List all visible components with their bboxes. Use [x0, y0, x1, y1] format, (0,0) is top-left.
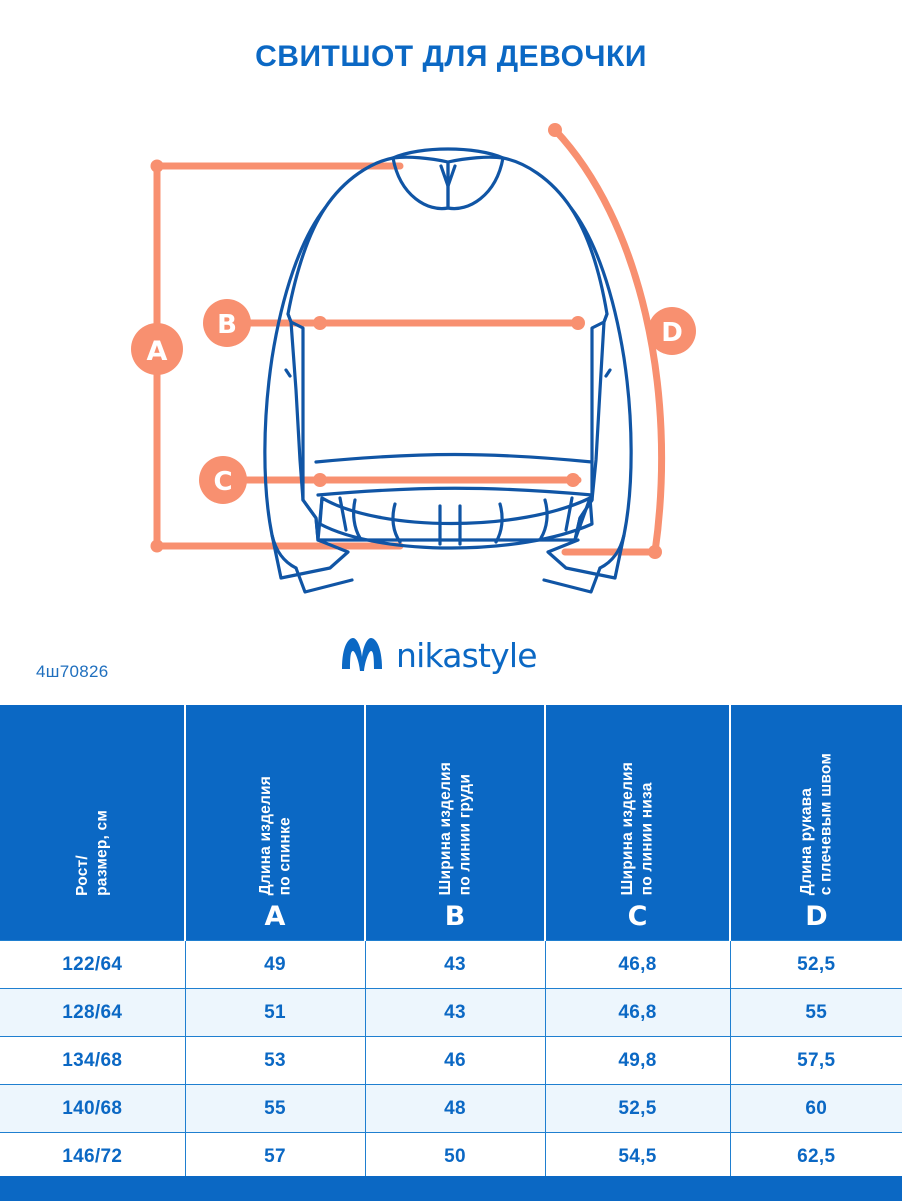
- cell-a: 53: [185, 1037, 365, 1085]
- endpoint-d-bottom: [648, 545, 662, 559]
- cell-c: 46,8: [545, 989, 730, 1037]
- page-title: СВИТШОТ ДЛЯ ДЕВОЧКИ: [0, 40, 902, 74]
- cell-a: 55: [185, 1085, 365, 1133]
- cell-size: 128/64: [0, 989, 185, 1037]
- size-table-header-row: Рост/ размер, см Длина изделия по спинке…: [0, 705, 902, 941]
- marker-d-label: D: [661, 318, 683, 348]
- left-sleeve-notch: [286, 370, 290, 376]
- cell-b: 48: [365, 1085, 545, 1133]
- garment-illustration: A B C D: [0, 100, 902, 600]
- marker-d: D: [648, 307, 696, 355]
- cell-d: 62,5: [730, 1133, 902, 1181]
- ruffle-folds: [340, 498, 572, 544]
- cell-d: 57,5: [730, 1037, 902, 1085]
- endpoint-c-left: [313, 473, 327, 487]
- marker-a: A: [131, 323, 183, 375]
- bottom-accent-bar: [0, 1176, 902, 1201]
- table-row: 146/72 57 50 54,5 62,5: [0, 1133, 902, 1181]
- marker-c-label: C: [213, 467, 232, 497]
- waistband-bottom: [318, 488, 592, 495]
- endpoint-c-right: [566, 473, 580, 487]
- size-table-body: 122/64 49 43 46,8 52,5 128/64 51 43 46,8…: [0, 941, 902, 1181]
- table-row: 122/64 49 43 46,8 52,5: [0, 941, 902, 989]
- column-header-size-text: Рост/ размер, см: [73, 810, 112, 896]
- cell-c: 46,8: [545, 941, 730, 989]
- marker-badges: A B C D: [131, 299, 696, 504]
- sweatshirt-drawing: [265, 149, 631, 592]
- column-header-c-text: Ширина изделия по линии низа: [618, 762, 657, 895]
- right-sleeve-notch: [606, 370, 610, 376]
- endpoint-b-left: [313, 316, 327, 330]
- endpoint-a-bottom: [151, 540, 164, 553]
- article-code: 4ш70826: [36, 662, 108, 682]
- column-header-b-text: Ширина изделия по линии груди: [436, 762, 475, 895]
- cell-b: 50: [365, 1133, 545, 1181]
- cell-size: 122/64: [0, 941, 185, 989]
- cell-d: 52,5: [730, 941, 902, 989]
- column-header-a-text: Длина изделия по спинке: [256, 776, 295, 895]
- size-chart-page: СВИТШОТ ДЛЯ ДЕВОЧКИ: [0, 0, 902, 1201]
- column-header-d-text: Длина рукава с плечевым швом: [797, 753, 836, 895]
- waistband-top: [316, 455, 592, 463]
- wave-mark: [342, 638, 382, 671]
- endpoint-b-right: [571, 316, 585, 330]
- marker-b: B: [203, 299, 251, 347]
- endpoint-a-top: [151, 160, 164, 173]
- cell-d: 55: [730, 989, 902, 1037]
- column-header-a-letter: A: [265, 903, 286, 930]
- column-header-b-letter: B: [445, 903, 466, 930]
- cell-c: 54,5: [545, 1133, 730, 1181]
- size-table: Рост/ размер, см Длина изделия по спинке…: [0, 705, 902, 1181]
- cell-size: 134/68: [0, 1037, 185, 1085]
- column-header-b: Ширина изделия по линии груди B: [365, 705, 545, 941]
- cell-d: 60: [730, 1085, 902, 1133]
- size-table-head: Рост/ размер, см Длина изделия по спинке…: [0, 705, 902, 941]
- column-header-c: Ширина изделия по линии низа C: [545, 705, 730, 941]
- column-header-d-letter: D: [805, 903, 827, 930]
- table-row: 134/68 53 46 49,8 57,5: [0, 1037, 902, 1085]
- column-header-size: Рост/ размер, см: [0, 705, 185, 941]
- cell-b: 43: [365, 989, 545, 1037]
- brand-name: nikastyle: [396, 639, 537, 672]
- cell-c: 52,5: [545, 1085, 730, 1133]
- marker-c: C: [199, 456, 247, 504]
- brand-logo: nikastyle: [340, 635, 537, 675]
- column-header-d: Длина рукава с плечевым швом D: [730, 705, 902, 941]
- cell-a: 51: [185, 989, 365, 1037]
- table-row: 128/64 51 43 46,8 55: [0, 989, 902, 1037]
- cell-a: 49: [185, 941, 365, 989]
- endpoint-d-top: [548, 123, 562, 137]
- cell-c: 49,8: [545, 1037, 730, 1085]
- marker-a-label: A: [147, 336, 168, 367]
- brand-row: 4ш70826 nikastyle: [0, 632, 902, 698]
- marker-b-label: B: [217, 310, 237, 340]
- cell-b: 46: [365, 1037, 545, 1085]
- cell-size: 140/68: [0, 1085, 185, 1133]
- cell-size: 146/72: [0, 1133, 185, 1181]
- hem-left-panel: [303, 498, 322, 540]
- measure-line-d: [555, 130, 662, 552]
- nikastyle-wave-icon: [340, 635, 384, 675]
- collar-right: [448, 157, 503, 208]
- cell-a: 57: [185, 1133, 365, 1181]
- column-header-a: Длина изделия по спинке A: [185, 705, 365, 941]
- column-header-c-letter: C: [628, 903, 648, 930]
- table-row: 140/68 55 48 52,5 60: [0, 1085, 902, 1133]
- cell-b: 43: [365, 941, 545, 989]
